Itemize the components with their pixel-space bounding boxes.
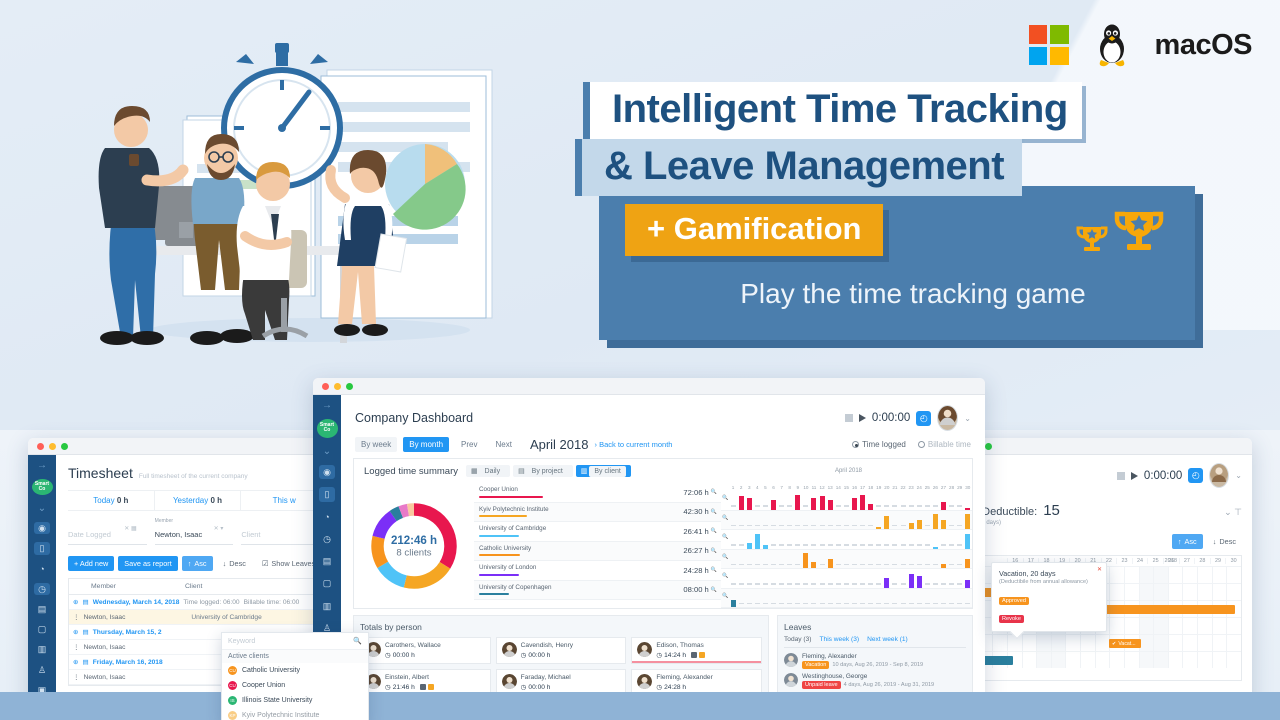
sidebar-item-reports[interactable]: ▢ bbox=[34, 623, 50, 635]
timesheet-sidebar[interactable]: → Smart Co ⌄ ◉ ▯ ◔ ◷ ▤ ▢ ▥ ♙ ▣ ❖ ▧ bbox=[28, 455, 56, 720]
calendar-cell[interactable] bbox=[1080, 652, 1095, 668]
calendar-cell[interactable] bbox=[1182, 584, 1197, 600]
calendar-cell[interactable] bbox=[1036, 635, 1051, 651]
chart-bar[interactable] bbox=[965, 580, 970, 588]
day-tick: 19 bbox=[875, 485, 883, 490]
clear-icon[interactable]: ✕ ▦ bbox=[124, 525, 136, 532]
timer-widget[interactable]: 0:00:00 ◴ ⌄ bbox=[845, 405, 971, 431]
sort-desc-button[interactable]: ↓ Desc bbox=[1207, 534, 1242, 549]
chart-bar-cell bbox=[915, 530, 923, 549]
sort-desc-label: Desc bbox=[229, 559, 246, 568]
company-logo[interactable]: Smart Co bbox=[317, 419, 338, 438]
stop-icon[interactable] bbox=[845, 414, 853, 422]
search-icon[interactable]: 🔍 bbox=[711, 489, 717, 495]
calendar-row[interactable]: ✔ Vacat... bbox=[963, 634, 1241, 651]
play-icon[interactable] bbox=[1131, 472, 1138, 480]
leave-popover[interactable]: ✕ Vacation, 20 days (Deductibile from an… bbox=[991, 562, 1107, 632]
dropdown-search[interactable]: Keyword 🔍 bbox=[222, 633, 368, 650]
stop-icon[interactable] bbox=[1117, 472, 1125, 480]
summary-tabs[interactable]: ▦ Daily ▤ By project ▥ By client bbox=[466, 465, 631, 477]
chart-bar[interactable] bbox=[933, 547, 938, 549]
close-icon[interactable]: ✕ bbox=[1097, 566, 1102, 573]
calendar-cell[interactable] bbox=[1022, 635, 1037, 651]
chart-bar-cell bbox=[859, 530, 867, 549]
chart-zero-line bbox=[876, 583, 881, 584]
day-tick: 14 bbox=[834, 485, 842, 490]
logo-line-2: Co bbox=[324, 428, 331, 434]
calendar-cell[interactable] bbox=[1197, 618, 1212, 634]
chart-bar-cell bbox=[802, 589, 810, 608]
expand-icon[interactable]: ⊕ bbox=[73, 628, 79, 636]
chart-bar[interactable] bbox=[803, 553, 808, 568]
calendar-cell[interactable] bbox=[1226, 584, 1241, 600]
chart-bar[interactable] bbox=[941, 502, 946, 510]
tab-today[interactable]: Today (3) bbox=[784, 636, 812, 643]
chart-bar-cell bbox=[948, 589, 956, 608]
tab-this-week[interactable]: This week (3) bbox=[820, 636, 860, 643]
row-menu-icon[interactable]: ⋮ bbox=[73, 643, 80, 651]
timesheet-window[interactable]: → Smart Co ⌄ ◉ ▯ ◔ ◷ ▤ ▢ ▥ ♙ ▣ ❖ ▧ Times… bbox=[28, 438, 328, 720]
client-name: Kyiv Polytechnic Institute bbox=[479, 506, 654, 514]
expand-icon[interactable]: ⊕ bbox=[73, 598, 79, 606]
leave-bar-label: Vacat... bbox=[1118, 641, 1135, 647]
leave-bar[interactable] bbox=[983, 656, 1013, 665]
chart-bar-cell bbox=[964, 511, 972, 530]
chart-zero-line bbox=[787, 525, 792, 526]
calendar-cell[interactable] bbox=[1212, 635, 1227, 651]
chart-bar-cell bbox=[939, 491, 947, 510]
sidebar-item-book[interactable]: ▯ bbox=[34, 542, 50, 554]
search-icon[interactable]: 🔍 bbox=[722, 593, 728, 599]
chart-bar[interactable] bbox=[965, 508, 970, 510]
client-hours-row: 26:41 h🔍 bbox=[659, 522, 721, 542]
calendar-cell[interactable] bbox=[1124, 618, 1139, 634]
chevron-down-icon[interactable]: ⌄ bbox=[964, 414, 971, 423]
calendar-cell[interactable] bbox=[1168, 652, 1183, 668]
calendar-cell[interactable] bbox=[1182, 618, 1197, 634]
search-icon[interactable]: 🔍 bbox=[711, 548, 717, 554]
sidebar-item-dashboard[interactable]: ◔ bbox=[34, 563, 50, 575]
calendar-cell[interactable] bbox=[1036, 652, 1051, 668]
chart-bar-cell bbox=[891, 550, 899, 569]
calendar-cell[interactable] bbox=[1226, 567, 1241, 583]
chart-bar-cell bbox=[850, 589, 858, 608]
chart-bar[interactable] bbox=[909, 523, 914, 529]
calendar-cell[interactable] bbox=[1139, 584, 1154, 600]
tab-by-client[interactable]: ▥ By client bbox=[576, 465, 631, 477]
client-hours-row: 26:27 h🔍 bbox=[659, 542, 721, 562]
chart-bar-cell bbox=[899, 530, 907, 549]
chart-series-row: 🔍 bbox=[721, 589, 972, 609]
sidebar-item-book[interactable]: ▯ bbox=[319, 487, 335, 501]
client-legend-row[interactable]: University of Cambridge bbox=[474, 522, 659, 542]
maximize-icon[interactable] bbox=[346, 383, 353, 390]
tab-yesterday-value: 0 h bbox=[210, 496, 222, 505]
close-icon[interactable] bbox=[322, 383, 329, 390]
calendar-cell[interactable] bbox=[1197, 652, 1212, 668]
calendar-row[interactable] bbox=[963, 651, 1241, 668]
tab-daily[interactable]: ▦ Daily bbox=[466, 465, 510, 477]
leave-row[interactable]: Fleming, AlexanderVacation10 days, Aug 2… bbox=[784, 653, 966, 669]
chart-bar-cell bbox=[875, 491, 883, 510]
chart-zero-line bbox=[852, 583, 857, 584]
calendar-cell[interactable] bbox=[1212, 567, 1227, 583]
tab-today[interactable]: Today 0 h bbox=[68, 491, 155, 510]
calendar-cell[interactable] bbox=[1226, 618, 1241, 634]
client-legend-row[interactable]: Cooper Union bbox=[474, 483, 659, 503]
chart-zero-line bbox=[836, 603, 841, 604]
radio-billable-time[interactable]: Billable time bbox=[918, 440, 971, 449]
chart-bar[interactable] bbox=[852, 498, 857, 509]
search-icon[interactable]: 🔍 bbox=[711, 509, 717, 515]
by-month-button[interactable]: By month bbox=[403, 437, 449, 452]
search-icon[interactable]: 🔍 bbox=[722, 515, 728, 521]
chart-zero-line bbox=[876, 603, 881, 604]
chart-bar-cell bbox=[826, 530, 834, 549]
minimize-icon[interactable] bbox=[334, 383, 341, 390]
chart-bar[interactable] bbox=[965, 514, 970, 529]
chart-zero-line bbox=[917, 544, 922, 545]
chart-zero-line bbox=[795, 564, 800, 565]
chart-bar-cell bbox=[964, 550, 972, 569]
calendar-cell[interactable] bbox=[1051, 652, 1066, 668]
calendar-cell[interactable] bbox=[1065, 652, 1080, 668]
linux-penguin-icon bbox=[1091, 22, 1133, 68]
view-mode-radios[interactable]: Time logged Billable time bbox=[852, 440, 971, 449]
calendar-cell[interactable] bbox=[1168, 584, 1183, 600]
prev-button[interactable]: Prev bbox=[455, 437, 483, 452]
calendar-cell[interactable] bbox=[1153, 635, 1168, 651]
calendar-cell[interactable] bbox=[1168, 635, 1183, 651]
chart-zero-line bbox=[860, 603, 865, 604]
calendar-cell[interactable] bbox=[1226, 635, 1241, 651]
chevron-down-icon[interactable]: ⌄ bbox=[323, 446, 331, 457]
search-icon[interactable]: 🔍 bbox=[722, 534, 728, 540]
calendar-cell[interactable] bbox=[1212, 584, 1227, 600]
search-icon[interactable]: 🔍 bbox=[353, 637, 362, 645]
sidebar-item-projects[interactable]: ▥ bbox=[319, 599, 335, 613]
calendar-cell[interactable] bbox=[1065, 635, 1080, 651]
chart-bar[interactable] bbox=[820, 496, 825, 509]
dropdown-item[interactable]: IS Illinois State University bbox=[222, 693, 368, 708]
chart-bar-cell bbox=[737, 511, 745, 530]
calendar-cell[interactable] bbox=[1109, 652, 1124, 668]
dropdown-item[interactable]: CU Catholic University bbox=[222, 663, 368, 678]
calendar-cell[interactable] bbox=[1124, 652, 1139, 668]
popover-subtitle: (Deductibile from annual allowance) bbox=[999, 579, 1099, 585]
chart-bar-cell bbox=[818, 530, 826, 549]
sidebar-item-profile[interactable]: ◉ bbox=[319, 465, 335, 479]
save-as-report-button[interactable]: Save as report bbox=[118, 556, 177, 571]
timesheet-actions[interactable]: + Add new Save as report ↑ Asc ↓ Desc ☑ … bbox=[68, 556, 328, 571]
sidebar-item-reports[interactable]: ▢ bbox=[319, 577, 335, 591]
status-badge: Vacation bbox=[802, 661, 829, 669]
chart-bar[interactable] bbox=[965, 559, 970, 568]
timer-icon[interactable]: ◴ bbox=[1188, 468, 1203, 483]
chart-bar-cell bbox=[834, 589, 842, 608]
chart-zero-line bbox=[925, 525, 930, 526]
maximize-icon[interactable] bbox=[61, 443, 68, 450]
row-menu-icon[interactable]: ⋮ bbox=[73, 613, 80, 621]
chart-zero-line bbox=[828, 603, 833, 604]
leave-person-name: Westinghouse, George bbox=[802, 673, 934, 680]
dropdown-item[interactable]: KP Kyiv Polytechnic Institute bbox=[222, 708, 368, 720]
calendar-cell[interactable] bbox=[1153, 567, 1168, 583]
chevron-down-icon[interactable]: ⌄ bbox=[1235, 471, 1242, 480]
chart-zero-line bbox=[901, 525, 906, 526]
chart-day-axis: 1234567891011121314151617181920212223242… bbox=[721, 483, 972, 491]
chart-zero-line bbox=[868, 603, 873, 604]
search-icon[interactable]: 🔍 bbox=[711, 528, 717, 534]
collapse-arrow-icon[interactable]: → bbox=[37, 460, 47, 471]
maximize-icon[interactable] bbox=[985, 443, 992, 450]
calendar-cell[interactable] bbox=[1197, 635, 1212, 651]
chart-bar-cell bbox=[956, 530, 964, 549]
period-controls[interactable]: By week By month Prev Next April 2018 › … bbox=[341, 433, 985, 458]
chart-bar-cell bbox=[939, 589, 947, 608]
calendar-cell[interactable] bbox=[1139, 652, 1154, 668]
sidebar-item-timesheet[interactable]: ◷ bbox=[319, 532, 335, 546]
chart-bar-cell bbox=[931, 511, 939, 530]
calendar-cell[interactable] bbox=[992, 635, 1007, 651]
chart-zero-line bbox=[909, 603, 914, 604]
radio-time-logged-label: Time logged bbox=[862, 440, 906, 449]
search-icon[interactable]: 🔍 bbox=[711, 567, 717, 573]
chart-bar[interactable] bbox=[965, 534, 970, 549]
person-card[interactable]: Cavendish, Henry◷00:00 h bbox=[496, 637, 627, 664]
sidebar-item-projects[interactable]: ▥ bbox=[34, 644, 50, 656]
chart-bar[interactable] bbox=[828, 559, 833, 568]
calendar-cell[interactable] bbox=[1124, 584, 1139, 600]
radio-time-logged[interactable]: Time logged bbox=[852, 440, 906, 449]
chart-bar[interactable] bbox=[755, 534, 760, 549]
calendar-cell[interactable] bbox=[1153, 652, 1168, 668]
sort-asc-button[interactable]: ↑ Asc bbox=[182, 556, 213, 571]
calendar-cell[interactable] bbox=[1212, 618, 1227, 634]
person-card[interactable]: Edison, Thomas◷14:24 h bbox=[631, 637, 762, 664]
calendar-cell[interactable] bbox=[1080, 635, 1095, 651]
filter-icon[interactable]: ⌄ ⊤ bbox=[1224, 507, 1242, 518]
leave-timer-bar[interactable]: 0:00:00 ◴ ⌄ bbox=[962, 463, 1242, 488]
chart-bar[interactable] bbox=[884, 516, 889, 529]
chart-bar[interactable] bbox=[731, 600, 736, 608]
table-row[interactable]: ⋮ Newton, Isaac University of Cambridge … bbox=[69, 610, 328, 625]
person-time-row: ◷21:46 h bbox=[385, 683, 434, 691]
chart-bar-cell bbox=[737, 491, 745, 510]
chart-zero-line bbox=[925, 505, 930, 506]
chart-bar-cell bbox=[778, 491, 786, 510]
chart-bar[interactable] bbox=[795, 495, 800, 510]
calendar-cell[interactable] bbox=[1109, 567, 1124, 583]
not-deductible-summary: Not Deductible: 15 ⌄ ⊤ bbox=[962, 502, 1242, 519]
client-color-bar bbox=[479, 535, 519, 537]
chart-bar[interactable] bbox=[747, 543, 752, 549]
chart-bar[interactable] bbox=[771, 500, 776, 509]
calendar-cell[interactable] bbox=[1109, 618, 1124, 634]
chart-bar[interactable] bbox=[811, 562, 816, 568]
chart-zero-line bbox=[949, 505, 954, 506]
tab-by-project[interactable]: ▤ By project bbox=[513, 465, 573, 477]
chart-bar[interactable] bbox=[876, 527, 881, 529]
timesheet-summary-tabs[interactable]: Today 0 h Yesterday 0 h This w bbox=[68, 490, 328, 511]
show-leaves-button[interactable]: ☑ Show Leaves bbox=[256, 556, 321, 571]
add-new-button[interactable]: + Add new bbox=[68, 556, 114, 571]
company-logo[interactable]: Smart Co bbox=[32, 479, 53, 495]
chart-bar[interactable] bbox=[909, 574, 914, 587]
calendar-cell[interactable] bbox=[1051, 635, 1066, 651]
calendar-cell[interactable] bbox=[1182, 567, 1197, 583]
chart-bar[interactable] bbox=[917, 576, 922, 587]
avatar[interactable] bbox=[937, 405, 958, 431]
chart-bar[interactable] bbox=[811, 498, 816, 509]
chart-bar[interactable] bbox=[884, 578, 889, 587]
day-tick: 17 bbox=[859, 485, 867, 490]
close-icon[interactable] bbox=[37, 443, 44, 450]
person-progress-bar bbox=[632, 661, 761, 663]
next-button[interactable]: Next bbox=[489, 437, 517, 452]
chart-bar-cell bbox=[826, 511, 834, 530]
sidebar-item-awards[interactable]: ♙ bbox=[34, 664, 50, 676]
chart-bar[interactable] bbox=[941, 564, 946, 568]
calendar-cell[interactable] bbox=[1197, 567, 1212, 583]
day-billable: Billable time: 06:00 bbox=[244, 599, 300, 606]
calendar-cell[interactable] bbox=[1168, 567, 1183, 583]
client-dropdown[interactable]: Keyword 🔍 Active clients CU Catholic Uni… bbox=[221, 632, 369, 720]
sort-desc-button[interactable]: ↓ Desc bbox=[217, 556, 252, 571]
revoke-button[interactable]: Revoke bbox=[999, 615, 1024, 623]
chart-zero-line bbox=[836, 544, 841, 545]
leaves-tabs[interactable]: Today (3) This week (3) Next week (1) bbox=[784, 636, 966, 648]
timesheet-filters[interactable]: Date Logged ✕ ▦ Member Newton, Isaac ✕ ▾… bbox=[68, 511, 328, 549]
search-icon[interactable]: 🔍 bbox=[722, 573, 728, 579]
leave-window[interactable]: 0:00:00 ◴ ⌄ Not Deductible: 15 ⌄ ⊤ (work… bbox=[952, 438, 1252, 720]
calendar-cell[interactable] bbox=[1168, 618, 1183, 634]
calendar-cell[interactable] bbox=[1095, 635, 1110, 651]
calendar-icon: ▤ bbox=[83, 628, 89, 636]
calendar-cell[interactable] bbox=[1182, 652, 1197, 668]
calendar-cell[interactable] bbox=[1139, 567, 1154, 583]
chart-bar-cell bbox=[761, 550, 769, 569]
table-row[interactable]: ⊕ ▤ Wednesday, March 14, 2018 Time logge… bbox=[69, 595, 328, 610]
calendar-cell[interactable] bbox=[1182, 635, 1197, 651]
row-menu-icon[interactable]: ⋮ bbox=[73, 673, 80, 681]
calendar-cell[interactable] bbox=[1153, 618, 1168, 634]
client-hours: 24:28 h bbox=[683, 566, 708, 575]
calendar-cell[interactable] bbox=[1095, 652, 1110, 668]
chart-bar[interactable] bbox=[933, 514, 938, 529]
leave-calendar[interactable]: 2018 161718192021222324252627282930 ✔ Va… bbox=[962, 555, 1242, 681]
sidebar-item-monitor[interactable]: ▤ bbox=[319, 554, 335, 568]
minimize-icon[interactable] bbox=[49, 443, 56, 450]
calendar-cell[interactable] bbox=[1153, 584, 1168, 600]
dropdown-item[interactable]: CU Cooper Union bbox=[222, 678, 368, 693]
calendar-cell[interactable] bbox=[1022, 652, 1037, 668]
chart-bar-cell bbox=[810, 550, 818, 569]
date-logged-filter[interactable]: Date Logged ✕ ▦ bbox=[68, 518, 147, 545]
person-badges bbox=[691, 652, 705, 658]
expand-icon[interactable]: ⊕ bbox=[73, 658, 79, 666]
member-filter[interactable]: Member Newton, Isaac ✕ ▾ bbox=[155, 518, 234, 545]
chart-bar-cell bbox=[729, 589, 737, 608]
client-filter[interactable]: Client bbox=[241, 518, 320, 545]
search-icon[interactable]: 🔍 bbox=[722, 554, 728, 560]
summary-card-header[interactable]: Logged time summary ▦ Daily ▤ By project… bbox=[354, 459, 972, 483]
chart-bar-cell bbox=[850, 550, 858, 569]
chevron-down-icon[interactable]: ⌄ bbox=[38, 503, 46, 514]
chart-bar[interactable] bbox=[828, 500, 833, 509]
leaves-card: Leaves Today (3) This week (3) Next week… bbox=[777, 615, 973, 703]
chart-bar[interactable] bbox=[763, 545, 768, 549]
client-hours-row: 72:06 h🔍 bbox=[659, 483, 721, 503]
avatar[interactable] bbox=[1209, 463, 1229, 488]
calendar-cell[interactable] bbox=[1109, 584, 1124, 600]
chart-zero-line bbox=[868, 583, 873, 584]
chart-zero-line bbox=[795, 583, 800, 584]
calendar-cell[interactable] bbox=[1212, 652, 1227, 668]
person-card[interactable]: Carothers, Wallace◷00:00 h bbox=[360, 637, 491, 664]
chart-zero-line bbox=[957, 583, 962, 584]
chart-zero-line bbox=[820, 603, 825, 604]
timer-icon[interactable]: ◴ bbox=[916, 411, 931, 426]
chart-bar-cell bbox=[859, 569, 867, 588]
chart-bar-cell bbox=[826, 589, 834, 608]
client-avatar: CU bbox=[228, 681, 237, 690]
calendar-cell[interactable] bbox=[1139, 618, 1154, 634]
search-icon[interactable]: 🔍 bbox=[722, 495, 728, 501]
dashboard-window[interactable]: → Smart Co ⌄ ◉ ▯ ◔ ◷ ▤ ▢ ▥ ♙ ▣ ❖ ▧ ⚙ Com… bbox=[313, 378, 985, 708]
client-legend-row[interactable]: Catholic University bbox=[474, 542, 659, 562]
timesheet-titlebar bbox=[28, 438, 328, 455]
client-legend-row[interactable]: University of London bbox=[474, 561, 659, 581]
by-week-button[interactable]: By week bbox=[355, 437, 397, 452]
calendar-cell[interactable] bbox=[1197, 584, 1212, 600]
chart-bar[interactable] bbox=[860, 495, 865, 510]
collapse-arrow-icon[interactable]: → bbox=[322, 400, 332, 411]
chart-bar[interactable] bbox=[868, 504, 873, 510]
back-to-current-month-link[interactable]: › Back to current month bbox=[594, 440, 672, 449]
sidebar-item-profile[interactable]: ◉ bbox=[34, 522, 50, 534]
sort-asc-button[interactable]: ↑ Asc bbox=[1172, 534, 1203, 549]
leave-row[interactable]: Westinghouse, GeorgeUnpaid leave4 days, … bbox=[784, 673, 966, 689]
calendar-cell[interactable] bbox=[1124, 567, 1139, 583]
chart-bar[interactable] bbox=[917, 520, 922, 529]
chart-bar-cell bbox=[842, 589, 850, 608]
leave-sort-controls[interactable]: ↑ Asc ↓ Desc bbox=[962, 534, 1242, 549]
sidebar-item-dashboard[interactable]: ◔ bbox=[319, 510, 335, 524]
donut-chart: 212:46 h8 clients bbox=[354, 483, 474, 608]
client-legend-row[interactable]: Kyiv Polytechnic Institute bbox=[474, 503, 659, 523]
calendar-day-tick: 30 bbox=[1225, 558, 1241, 564]
sidebar-item-monitor[interactable]: ▤ bbox=[34, 603, 50, 615]
leave-bar[interactable]: ✔ Vacat... bbox=[1109, 639, 1141, 648]
chart-bar-cell bbox=[778, 530, 786, 549]
search-icon[interactable]: 🔍 bbox=[711, 587, 717, 593]
tab-next-week[interactable]: Next week (1) bbox=[867, 636, 908, 643]
calendar-cell[interactable] bbox=[1226, 652, 1241, 668]
chart-bar[interactable] bbox=[739, 496, 744, 509]
chart-bar[interactable] bbox=[941, 520, 946, 529]
client-legend-row[interactable]: University of Copenhagen bbox=[474, 581, 659, 601]
team-illustration bbox=[95, 18, 525, 348]
play-icon[interactable] bbox=[859, 414, 866, 422]
clear-icon[interactable]: ✕ ▾ bbox=[214, 525, 224, 532]
chart-bar[interactable] bbox=[747, 498, 752, 509]
calendar-cell[interactable] bbox=[1007, 635, 1022, 651]
date-logged-value: Date Logged bbox=[68, 530, 111, 539]
chart-bar-cell bbox=[745, 569, 753, 588]
sidebar-item-timesheet[interactable]: ◷ bbox=[34, 583, 50, 595]
tab-yesterday[interactable]: Yesterday 0 h bbox=[155, 491, 242, 510]
